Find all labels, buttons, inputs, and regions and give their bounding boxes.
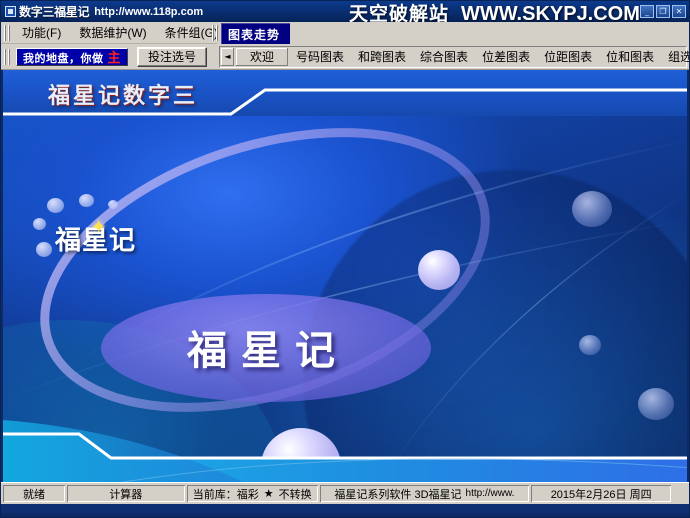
splash-heading: 福星记数字三 — [48, 78, 198, 110]
tab-sum-span-chart[interactable]: 和跨图表 — [352, 48, 412, 66]
status-db-convert: 不转换 — [279, 486, 312, 502]
application-window: 数字三福星记 http://www.118p.com 天空破解站 WWW.SKY… — [0, 0, 690, 518]
minimize-button[interactable]: _ — [640, 5, 654, 18]
my-place-accent: 主 — [108, 50, 122, 65]
window-title-url: http://www.118p.com — [94, 6, 203, 18]
status-brand-text: 福星记系列软件 3D福星记 — [334, 486, 461, 502]
watermark: 天空破解站 WWW.SKYPJ.COM — [349, 1, 640, 22]
window-restore-icon[interactable] — [5, 6, 16, 17]
tab-number-chart[interactable]: 号码图表 — [290, 48, 350, 66]
sphere-small-upper — [418, 250, 460, 290]
tab-scroll-left-button[interactable]: ◄ — [221, 48, 234, 66]
star-icon: ★ — [264, 487, 274, 500]
tab-position-sum-chart[interactable]: 位和图表 — [600, 48, 660, 66]
sphere-faint-right-edge — [638, 388, 674, 420]
status-calculator-button[interactable]: 计算器 — [67, 485, 185, 502]
my-place-label: 我的地盘，你做 — [23, 53, 104, 65]
tab-welcome[interactable]: 欢迎 — [236, 48, 288, 66]
bet-select-number-button[interactable]: 投注选号 — [137, 47, 207, 67]
status-current-database: 当前库： 福彩 ★ 不转换 — [187, 485, 318, 502]
deco-dot-3 — [108, 200, 118, 209]
sphere-faint-mid-right — [579, 335, 601, 355]
tab-comprehensive-chart[interactable]: 综合图表 — [414, 48, 474, 66]
status-db-value: 福彩 — [237, 486, 259, 502]
tabs-drag-grip[interactable] — [212, 25, 218, 41]
window-title: 数字三福星记 — [19, 3, 89, 20]
client-area: 福星记数字三 福星记 ✦ 福星记 — [1, 70, 689, 482]
restore-button[interactable]: ❐ — [656, 5, 670, 18]
deco-dot-1 — [47, 198, 64, 213]
watermark-en: WWW.SKYPJ.COM — [461, 3, 640, 22]
menu-item-data-maintenance[interactable]: 数据维护(W) — [70, 22, 155, 43]
deco-dot-4 — [33, 218, 46, 230]
title-bar: 数字三福星记 http://www.118p.com 天空破解站 WWW.SKY… — [1, 1, 689, 22]
status-ready: 就绪 — [3, 485, 65, 502]
status-resize-grip[interactable] — [673, 485, 687, 502]
status-date: 2015年2月26日 周四 — [531, 485, 671, 502]
status-bar: 就绪 计算器 当前库： 福彩 ★ 不转换 福星记系列软件 3D福星记 http:… — [1, 482, 689, 504]
tab-strip: ◄ 欢迎 号码图表 和跨图表 综合图表 位差图表 位距图表 位和图表 组选二码 … — [219, 46, 687, 68]
watermark-cn: 天空破解站 — [349, 1, 449, 22]
window-controls: _ ❐ ✕ — [640, 5, 686, 18]
welcome-splash: 福星记数字三 福星记 ✦ 福星记 — [3, 70, 687, 482]
menu-item-function[interactable]: 功能(F) — [13, 22, 70, 43]
toolbar-drag-grip[interactable] — [4, 49, 10, 65]
status-db-label: 当前库： — [193, 486, 237, 502]
tab-header-chart-trend[interactable]: 图表走势 — [221, 23, 290, 46]
status-brand: 福星记系列软件 3D福星记 http://www. — [320, 485, 530, 502]
splash-small-logo: 福星记 ✦ — [55, 220, 136, 257]
toolbar: 我的地盘，你做主 投注选号 ◄ 欢迎 号码图表 和跨图表 综合图表 位差图表 位… — [1, 44, 689, 70]
menu-bar: 功能(F) 数据维护(W) 条件组(G) 图表走势 — [1, 22, 689, 44]
deco-dot-5 — [36, 242, 52, 257]
my-place-button[interactable]: 我的地盘，你做主 — [16, 48, 128, 66]
deco-dot-2 — [79, 194, 94, 207]
splash-big-logo: 福星记 — [123, 318, 413, 376]
menu-drag-grip[interactable] — [4, 25, 10, 41]
window-bottom-edge — [1, 513, 690, 517]
status-brand-url: http://www. — [466, 488, 515, 499]
close-button[interactable]: ✕ — [672, 5, 686, 18]
tab-position-difference-chart[interactable]: 位差图表 — [476, 48, 536, 66]
sphere-faint-top-right — [572, 191, 612, 227]
sparkle-star-icon: ✦ — [92, 217, 106, 236]
tab-group-two-codes[interactable]: 组选二码 — [662, 48, 690, 66]
tab-position-distance-chart[interactable]: 位距图表 — [538, 48, 598, 66]
